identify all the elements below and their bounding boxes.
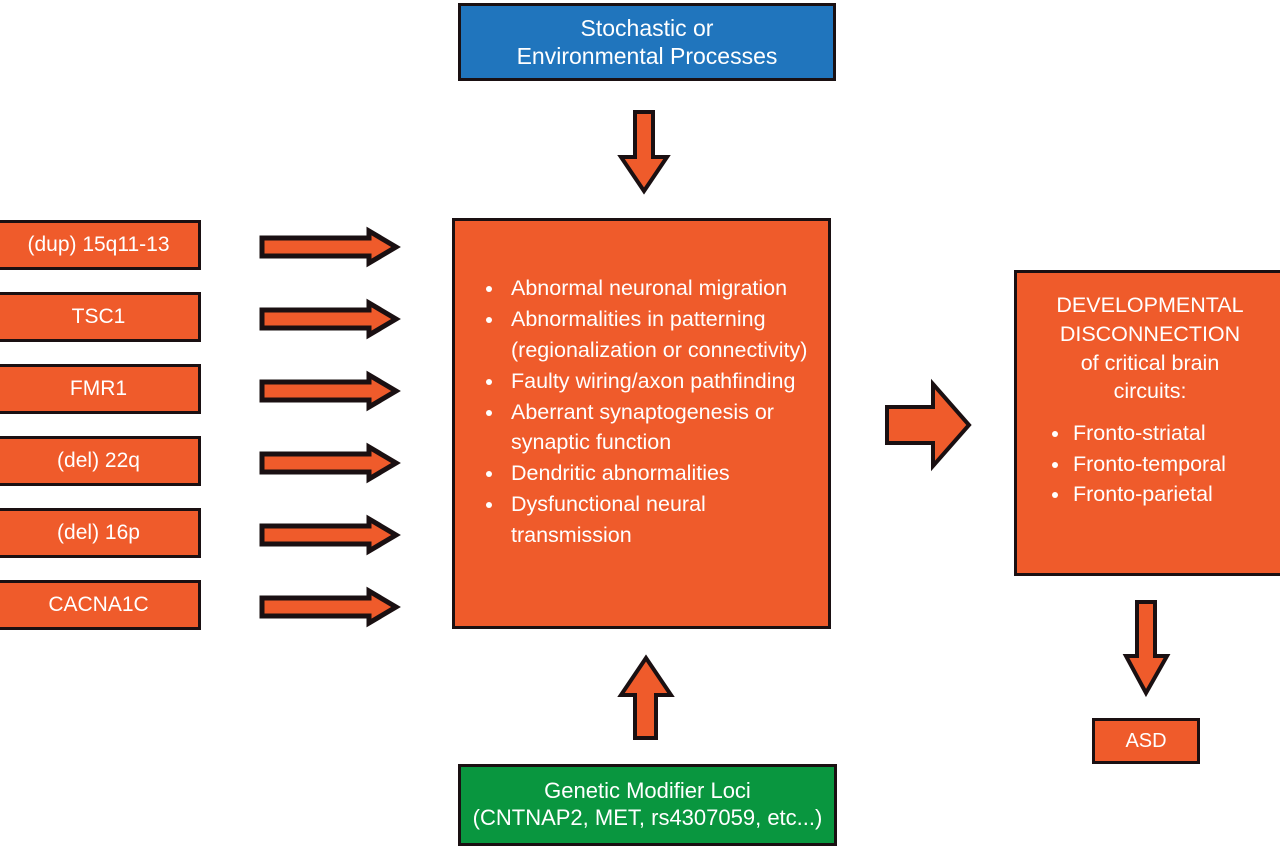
genetic-modifier-line-1: Genetic Modifier Loci (544, 778, 751, 805)
arrow-down-icon-asd (1124, 600, 1170, 696)
arrow-right-icon-gene-3 (259, 372, 399, 410)
gene-box-label: TSC1 (72, 304, 126, 330)
stochastic-environmental-processes-box: Stochastic or Environmental Processes (458, 3, 836, 81)
gene-box-label: (dup) 15q11-13 (27, 232, 169, 258)
list-item: Dendritic abnormalities (505, 458, 814, 489)
arrow-up-icon-bottom (618, 655, 674, 741)
gene-box-del-16p: (del) 16p (0, 508, 201, 558)
stochastic-box-line-2: Environmental Processes (517, 42, 778, 70)
arrow-right-icon-gene-6 (259, 588, 399, 626)
arrow-right-block-icon (884, 381, 972, 469)
list-item: Fronto-parietal (1071, 479, 1226, 510)
list-item: Dysfunctional neural transmission (505, 489, 814, 550)
list-item: Abnormalities in patterning (regionaliza… (505, 304, 814, 365)
asd-outcome-box: ASD (1092, 718, 1200, 764)
arrow-right-icon-gene-4 (259, 444, 399, 482)
gene-box-fmr1: FMR1 (0, 364, 201, 414)
gene-box-dup-15q11-13: (dup) 15q11-13 (0, 220, 201, 270)
diagram-canvas: Stochastic or Environmental Processes (d… (0, 0, 1280, 849)
gene-box-cacna1c: CACNA1C (0, 580, 201, 630)
arrow-down-icon-top (618, 110, 670, 194)
gene-box-label: FMR1 (70, 376, 127, 402)
gene-box-label: (del) 22q (57, 448, 140, 474)
circuits-list: Fronto-striatal Fronto-temporal Fronto-p… (1027, 418, 1226, 510)
gene-box-label: (del) 16p (57, 520, 140, 546)
asd-box-label: ASD (1125, 729, 1166, 753)
gene-box-label: CACNA1C (48, 592, 148, 618)
mechanisms-list: Abnormal neuronal migration Abnormalitie… (469, 273, 814, 551)
arrow-right-icon-gene-1 (259, 228, 399, 266)
arrow-right-icon-gene-5 (259, 516, 399, 554)
developmental-disconnection-box: DEVELOPMENTAL DISCONNECTION of critical … (1014, 270, 1280, 576)
gene-box-tsc1: TSC1 (0, 292, 201, 342)
list-item: Faulty wiring/axon pathfinding (505, 366, 814, 397)
disconnection-heading-line-2: DISCONNECTION (1027, 320, 1273, 349)
disconnection-heading-line-1: DEVELOPMENTAL (1027, 291, 1273, 320)
list-item: Aberrant synaptogenesis or synaptic func… (505, 397, 814, 458)
disconnection-heading: DEVELOPMENTAL DISCONNECTION of critical … (1027, 291, 1273, 406)
gene-box-del-22q: (del) 22q (0, 436, 201, 486)
neurodevelopmental-mechanisms-box: Abnormal neuronal migration Abnormalitie… (452, 218, 831, 629)
list-item: Fronto-striatal (1071, 418, 1226, 449)
stochastic-box-line-1: Stochastic or (581, 14, 714, 42)
arrow-right-icon-gene-2 (259, 300, 399, 338)
genetic-modifier-line-2: (CNTNAP2, MET, rs4307059, etc...) (473, 805, 823, 832)
genetic-modifier-loci-box: Genetic Modifier Loci (CNTNAP2, MET, rs4… (458, 764, 837, 846)
list-item: Abnormal neuronal migration (505, 273, 814, 304)
disconnection-heading-line-3: of critical brain (1027, 349, 1273, 378)
list-item: Fronto-temporal (1071, 449, 1226, 480)
disconnection-heading-line-4: circuits: (1027, 377, 1273, 406)
